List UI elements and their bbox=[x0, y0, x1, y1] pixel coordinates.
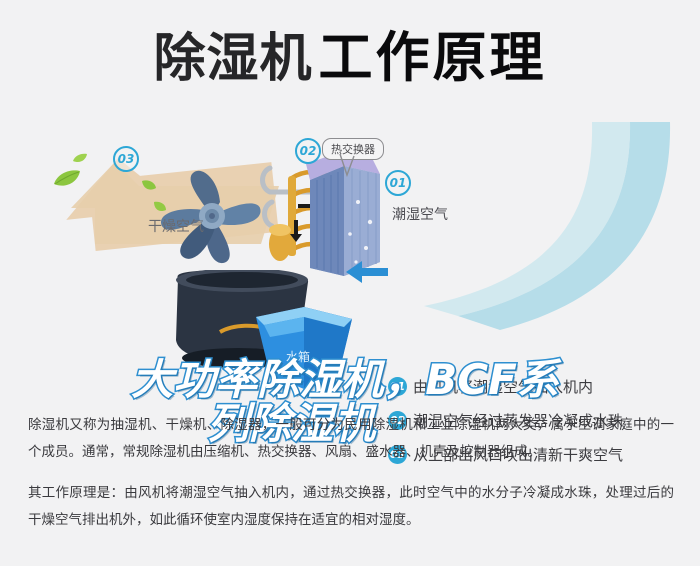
dry-air-label: 干燥空气 bbox=[148, 216, 204, 236]
humid-air-sweep bbox=[380, 120, 680, 350]
bubble-tail-icon bbox=[336, 153, 358, 179]
callout-number-03: 03 bbox=[113, 146, 139, 172]
title-band: 除湿机工作原理 bbox=[0, 0, 700, 120]
leaf-icon bbox=[72, 152, 88, 165]
dehumidifier-diagram: 03 02 01 热交换器 干燥空气 潮湿空气 水箱 01 由风机将潮湿空气抽入… bbox=[0, 120, 700, 400]
callout-number-01: 01 bbox=[385, 170, 411, 196]
page-title: 除湿机工作原理 bbox=[0, 30, 700, 85]
poster-page: 除湿机工作原理 bbox=[0, 0, 700, 566]
title-secondary: 工作原理 bbox=[319, 25, 547, 89]
legend-text: 由风机将潮湿空气抽入机内 bbox=[413, 376, 593, 397]
legend-number: 01 bbox=[388, 377, 407, 396]
legend-item: 01 由风机将潮湿空气抽入机内 bbox=[388, 376, 700, 397]
humid-air-label: 潮湿空气 bbox=[392, 204, 448, 224]
water-tank-label: 水箱 bbox=[286, 348, 310, 365]
title-primary: 除湿机 bbox=[153, 29, 312, 89]
paragraph-1: 除湿机又称为抽湿机、干燥机、除湿器，一般可分为民用除湿机和工业除湿机两大类，属于… bbox=[28, 412, 674, 466]
callout-number-02: 02 bbox=[295, 138, 321, 164]
leaf-icon bbox=[52, 168, 82, 190]
paragraph-2: 其工作原理是：由风机将潮湿空气抽入机内，通过热交换器，此时空气中的水分子冷凝成水… bbox=[28, 480, 674, 534]
description-text: 除湿机又称为抽湿机、干燥机、除湿器，一般可分为民用除湿机和工业除湿机两大类，属于… bbox=[28, 412, 674, 534]
